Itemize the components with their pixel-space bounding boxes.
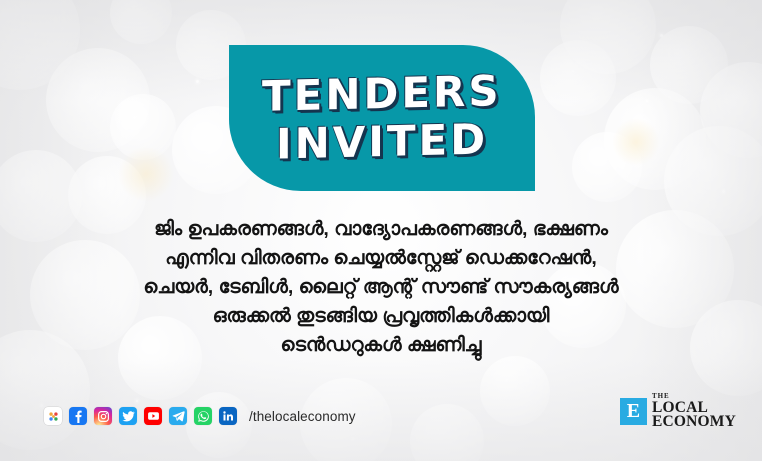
- brand-logo-mark: E: [620, 398, 647, 425]
- headline-banner-text: TENDERS INVITED: [229, 45, 535, 191]
- twitter-icon[interactable]: [119, 407, 137, 425]
- brand-logo-wordmark: THE LOCAL ECONOMY: [652, 393, 736, 429]
- youtube-icon[interactable]: [144, 407, 162, 425]
- instagram-icon[interactable]: [94, 407, 112, 425]
- announcement-line-4: ഒരുക്കൽ തുടങ്ങിയ പ്രവൃത്തികൾക്കായി: [24, 302, 738, 331]
- koo-app-icon[interactable]: [44, 407, 62, 425]
- announcement-line-3: ചെയർ, ടേബിൾ, ലൈറ്റ് ആന്റ് സൗണ്ട് സൗകര്യങ…: [24, 273, 738, 302]
- brand-logo-mark-letter: E: [627, 401, 640, 421]
- headline-line-1: TENDERS: [262, 70, 502, 118]
- announcement-line-1: ജിം ഉപകരണങ്ങൾ, വാദ്യോപകരണങ്ങൾ, ഭക്ഷണം: [24, 215, 738, 244]
- brand-logo: E THE LOCAL ECONOMY: [620, 393, 736, 429]
- telegram-icon[interactable]: [169, 407, 187, 425]
- whatsapp-icon[interactable]: [194, 407, 212, 425]
- facebook-icon[interactable]: [69, 407, 87, 425]
- linkedin-icon[interactable]: [219, 407, 237, 425]
- headline-banner: TENDERS INVITED: [229, 45, 535, 191]
- headline-line-2: INVITED: [276, 118, 488, 165]
- social-links-row: /thelocaleconomy: [44, 407, 356, 425]
- poster-footer: /thelocaleconomy E THE LOCAL ECONOMY: [0, 399, 762, 461]
- announcement-line-5: ടെൻഡറുകൾ ക്ഷണിച്ചു: [24, 331, 738, 360]
- announcement-body: ജിം ഉപകരണങ്ങൾ, വാദ്യോപകരണങ്ങൾ, ഭക്ഷണം എന…: [0, 215, 762, 360]
- announcement-line-2: എന്നിവ വിതരണം ചെയ്യൽസ്റ്റേജ് ഡെക്കറേഷൻ,: [24, 244, 738, 273]
- tender-notice-poster: TENDERS INVITED ജിം ഉപകരണങ്ങൾ, വാദ്യോപകര…: [0, 0, 762, 461]
- social-handle: /thelocaleconomy: [249, 409, 356, 424]
- brand-word-economy: ECONOMY: [652, 414, 736, 430]
